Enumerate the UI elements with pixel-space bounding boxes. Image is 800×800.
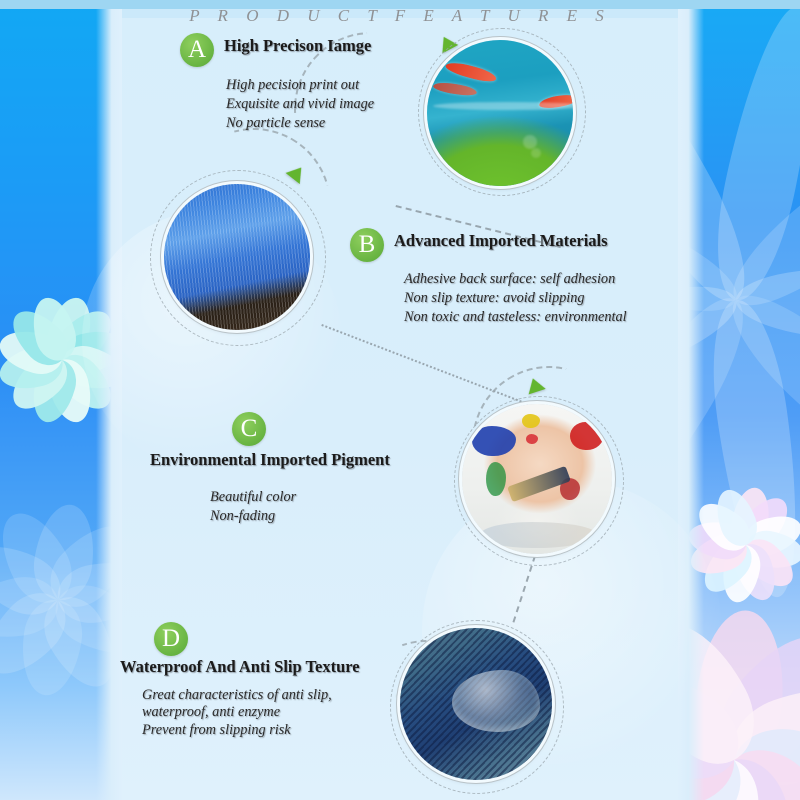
section-b-line-3: Non toxic and tasteless: environmental — [404, 308, 627, 327]
photo-environmental-pigment[interactable] — [462, 404, 612, 554]
water-highlight — [433, 102, 573, 110]
paintbrush — [507, 466, 571, 502]
photo-advanced-materials[interactable] — [164, 184, 310, 330]
paint-floor-smear — [480, 522, 596, 548]
koi-fish-2 — [432, 80, 477, 97]
photo-high-precision-image[interactable] — [427, 40, 573, 186]
photo-b-artwork — [164, 184, 310, 330]
paint-splat-red — [570, 422, 604, 450]
section-d-line-3: Prevent from slipping risk — [142, 721, 291, 740]
water-droplet — [452, 670, 540, 732]
paint-dot-forehead — [526, 434, 538, 444]
section-a-line-1: High pecision print out — [226, 76, 359, 95]
right-decorative-border — [678, 0, 800, 800]
section-d-title: Waterproof And Anti Slip Texture — [120, 657, 360, 677]
paint-splat-blue — [472, 426, 516, 456]
badge-letter-d: D — [154, 622, 188, 656]
infographic-canvas: P R O D U C T F E A T U R E S — [0, 0, 800, 800]
section-b-line-2: Non slip texture: avoid slipping — [404, 289, 585, 308]
badge-letter-a: A — [180, 33, 214, 67]
top-edge-strip — [0, 0, 800, 9]
right-border-fade — [678, 0, 704, 800]
section-a-line-2: Exquisite and vivid image — [226, 95, 374, 114]
content-panel: P R O D U C T F E A T U R E S — [122, 0, 678, 800]
water-bubble-2 — [531, 148, 541, 158]
photo-waterproof-texture[interactable] — [400, 628, 552, 780]
section-a-title: High Precison Iamge — [224, 36, 371, 56]
photo-d-artwork — [400, 628, 552, 780]
koi-fish-1 — [444, 59, 497, 85]
paint-splat-yellow — [522, 414, 540, 428]
left-decorative-border — [0, 0, 122, 800]
section-c-title: Environmental Imported Pigment — [150, 450, 390, 470]
section-b-title: Advanced Imported Materials — [394, 231, 608, 251]
section-c-line-1: Beautiful color — [210, 488, 296, 507]
left-border-fade — [96, 0, 122, 800]
page-title: P R O D U C T F E A T U R E S — [122, 6, 678, 26]
badge-letter-c: C — [232, 412, 266, 446]
photo-a-artwork — [427, 40, 573, 186]
section-d-line-2: waterproof, anti enzyme — [142, 703, 280, 722]
photo-c-artwork — [462, 404, 612, 554]
section-b-line-1: Adhesive back surface: self adhesion — [404, 270, 615, 289]
water-bubble-1 — [523, 135, 537, 149]
badge-letter-b: B — [350, 228, 384, 262]
paint-splat-green — [486, 462, 506, 496]
section-a-line-3: No particle sense — [226, 114, 325, 133]
section-c-line-2: Non-fading — [210, 507, 275, 526]
